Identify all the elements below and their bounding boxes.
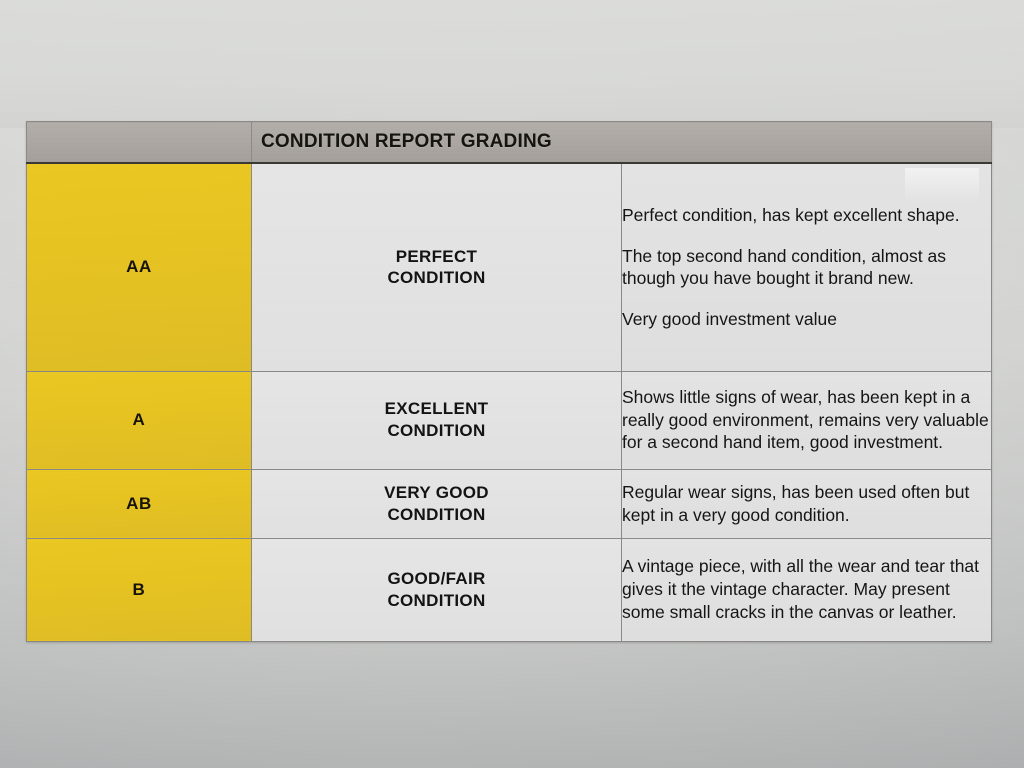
description-b: A vintage piece, with all the wear and t… (622, 538, 992, 641)
condition-name-line1: PERFECT (396, 247, 477, 266)
table-row: AB VERY GOOD CONDITION Regular wear sign… (27, 469, 992, 538)
condition-name-line2: CONDITION (387, 591, 485, 610)
description-paragraph: A vintage piece, with all the wear and t… (622, 555, 991, 623)
table-row: B GOOD/FAIR CONDITION A vintage piece, w… (27, 538, 992, 641)
description-paragraph: Perfect condition, has kept excellent sh… (622, 204, 991, 227)
description-paragraph: Regular wear signs, has been used often … (622, 481, 991, 527)
condition-name-line1: GOOD/FAIR (387, 569, 485, 588)
grade-label-ab: AB (27, 469, 252, 538)
description-ab: Regular wear signs, has been used often … (622, 469, 992, 538)
condition-name-line1: EXCELLENT (385, 399, 489, 418)
grade-label-aa: AA (27, 163, 252, 371)
grade-label-a: A (27, 371, 252, 469)
condition-name-line2: CONDITION (387, 505, 485, 524)
condition-report-grading-table: CONDITION REPORT GRADING AA PERFECT COND… (26, 121, 992, 642)
table-header-row: CONDITION REPORT GRADING (27, 122, 992, 164)
description-paragraph: Shows little signs of wear, has been kep… (622, 386, 991, 454)
description-paragraph: The top second hand condition, almost as… (622, 245, 991, 291)
table-title-cell: CONDITION REPORT GRADING (252, 122, 992, 164)
condition-name-line2: CONDITION (387, 421, 485, 440)
paper-top-highlight (0, 0, 1024, 128)
condition-name-aa: PERFECT CONDITION (252, 163, 622, 371)
page-title: CONDITION REPORT GRADING (252, 131, 552, 152)
table-row: AA PERFECT CONDITION Perfect condition, … (27, 163, 992, 371)
header-empty-cell (27, 122, 252, 164)
condition-name-ab: VERY GOOD CONDITION (252, 469, 622, 538)
condition-name-a: EXCELLENT CONDITION (252, 371, 622, 469)
condition-name-line2: CONDITION (387, 268, 485, 287)
condition-name-b: GOOD/FAIR CONDITION (252, 538, 622, 641)
grade-label-b: B (27, 538, 252, 641)
condition-name-line1: VERY GOOD (384, 483, 489, 502)
description-aa: Perfect condition, has kept excellent sh… (622, 163, 992, 371)
description-a: Shows little signs of wear, has been kep… (622, 371, 992, 469)
table-row: A EXCELLENT CONDITION Shows little signs… (27, 371, 992, 469)
description-paragraph: Very good investment value (622, 308, 991, 331)
